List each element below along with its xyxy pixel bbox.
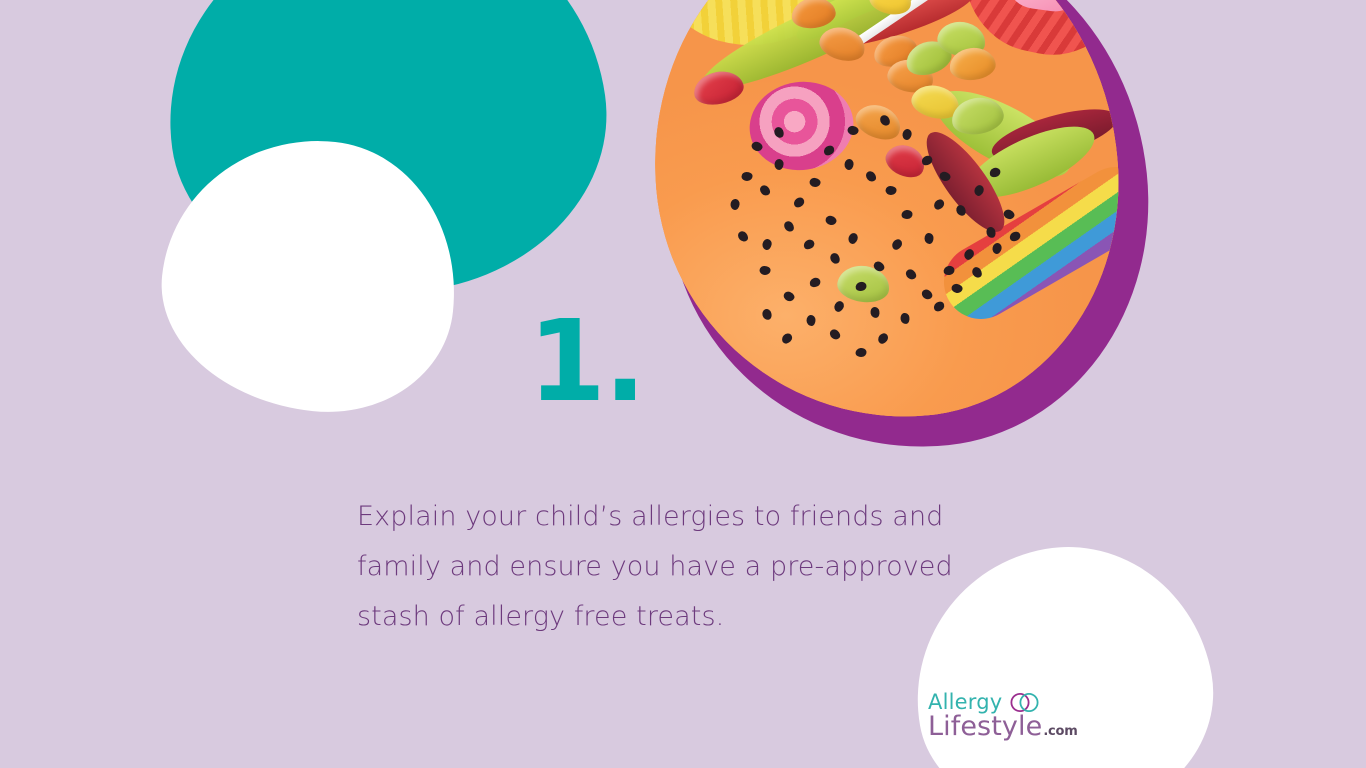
sprinkle-icon: [730, 199, 740, 211]
sprinkle-icon: [870, 306, 881, 319]
sprinkle-icon: [761, 308, 773, 321]
sprinkle-icon: [782, 290, 796, 303]
sprinkle-icon: [780, 331, 794, 345]
sprinkle-icon: [806, 315, 815, 326]
logo-bottom-row: Lifestyle .com: [928, 713, 1108, 741]
sprinkle-icon: [900, 312, 911, 324]
sprinkle-icon: [782, 219, 796, 233]
sprinkle-icon: [758, 183, 772, 197]
sprinkle-icon: [832, 300, 845, 314]
sprinkle-icon: [844, 159, 854, 171]
sprinkle-icon: [901, 209, 913, 219]
sprinkle-icon: [774, 159, 784, 171]
candy-photo-content: [634, 0, 1139, 430]
sprinkle-icon: [809, 177, 821, 187]
sprinkle-icon: [802, 238, 816, 251]
logo-allergy-text: Allergy: [928, 692, 1002, 713]
sprinkle-icon: [759, 266, 770, 275]
sprinkle-icon: [829, 252, 842, 266]
logo-dotcom-text: .com: [1043, 724, 1077, 739]
sprinkle-icon: [876, 331, 890, 345]
slide-canvas: 1. Explain your child’s allergies to fri…: [0, 0, 1366, 768]
sprinkle-icon: [890, 237, 904, 251]
logo-lifestyle-text: Lifestyle: [928, 713, 1042, 741]
lollipop-icon: [744, 75, 859, 177]
sprinkle-icon: [924, 233, 934, 244]
sprinkle-icon: [932, 197, 946, 211]
sprinkle-icon: [932, 300, 946, 314]
sprinkle-icon: [742, 172, 753, 181]
sprinkle-icon: [904, 267, 918, 281]
sprinkle-icon: [847, 232, 859, 245]
step-number: 1.: [528, 306, 644, 418]
sprinkle-icon: [792, 196, 806, 210]
sprinkle-icon: [736, 229, 750, 243]
sprinkle-icon: [761, 238, 772, 251]
jelly-bean-icon: [851, 99, 906, 146]
candy-photo: [634, 0, 1139, 437]
photo-cluster: [655, 0, 1155, 468]
sprinkle-icon: [920, 288, 934, 302]
tip-body-text: Explain your child’s allergies to friend…: [357, 492, 997, 642]
sprinkle-icon: [864, 169, 878, 183]
logo[interactable]: Allergy Lifestyle .com: [928, 690, 1108, 741]
sprinkle-icon: [855, 347, 867, 357]
sprinkle-icon: [885, 186, 896, 195]
interlocking-circles-icon: [1009, 692, 1041, 713]
sprinkle-icon: [828, 327, 842, 341]
sprinkle-icon: [808, 276, 822, 289]
sprinkle-icon: [901, 128, 912, 141]
sprinkle-icon: [824, 215, 837, 227]
